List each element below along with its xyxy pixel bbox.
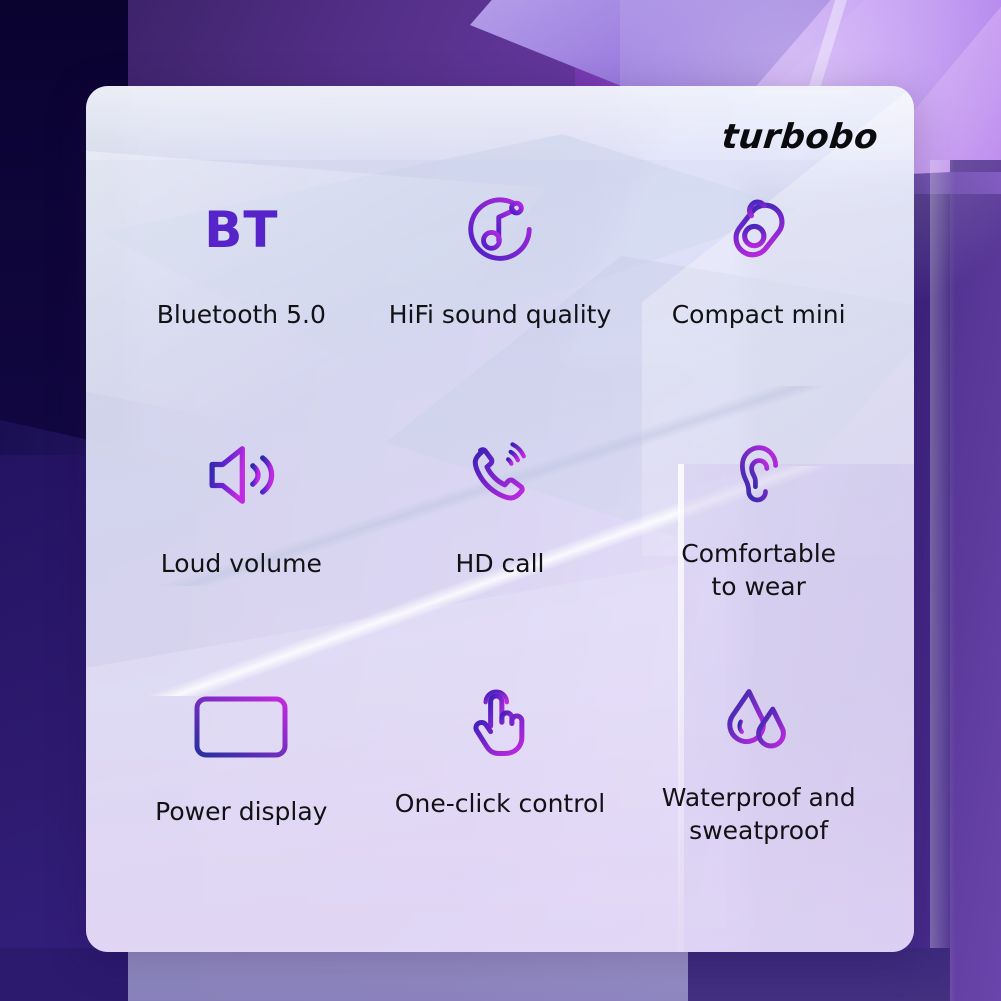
- feature-label-hifi: HiFi sound quality: [389, 298, 612, 331]
- bt-wordmark-icon: BT: [204, 182, 278, 278]
- bt-wordmark-text: BT: [204, 205, 278, 255]
- ear-icon: [721, 427, 797, 523]
- feature-item-bluetooth: BT Bluetooth 5.0: [112, 164, 371, 409]
- feature-item-call: HD call: [371, 409, 630, 654]
- feature-label-compact: Compact mini: [672, 298, 846, 331]
- feature-label-oneclick: One-click control: [395, 787, 605, 820]
- feature-item-power: Power display: [112, 655, 371, 900]
- feature-card: turbobo BT Bluetooth 5.0: [86, 86, 914, 952]
- earbud-icon: [718, 182, 800, 278]
- phone-call-icon: [460, 427, 540, 523]
- feature-label-comfort: Comfortable to wear: [681, 537, 836, 603]
- feature-item-oneclick: One-click control: [371, 655, 630, 900]
- water-drops-icon: [719, 673, 799, 769]
- feature-label-waterproof: Waterproof and sweatproof: [662, 781, 856, 847]
- feature-label-power: Power display: [155, 795, 327, 828]
- speaker-volume-icon: [199, 427, 283, 523]
- feature-item-waterproof: Waterproof and sweatproof: [629, 655, 888, 900]
- brand-logo: turbobo: [720, 120, 880, 154]
- feature-label-volume: Loud volume: [161, 547, 322, 580]
- background-bottom-band-right: [688, 948, 950, 1001]
- background-bottom-left: [0, 948, 128, 1001]
- feature-label-call: HD call: [456, 547, 545, 580]
- background-right-column-far: [950, 160, 1001, 1001]
- background-bottom-band: [128, 948, 688, 1001]
- feature-grid: BT Bluetooth 5.0: [112, 164, 888, 922]
- feature-item-volume: Loud volume: [112, 409, 371, 654]
- feature-label-bluetooth: Bluetooth 5.0: [157, 298, 326, 331]
- promo-graphic: turbobo BT Bluetooth 5.0: [0, 0, 1001, 1001]
- feature-item-hifi: HiFi sound quality: [371, 164, 630, 409]
- feature-item-compact: Compact mini: [629, 164, 888, 409]
- background-column-highlight: [930, 160, 956, 1001]
- tap-hand-icon: [460, 673, 540, 769]
- battery-display-icon: [194, 679, 288, 775]
- music-note-circle-icon: [461, 182, 539, 278]
- feature-item-comfort: Comfortable to wear: [629, 409, 888, 654]
